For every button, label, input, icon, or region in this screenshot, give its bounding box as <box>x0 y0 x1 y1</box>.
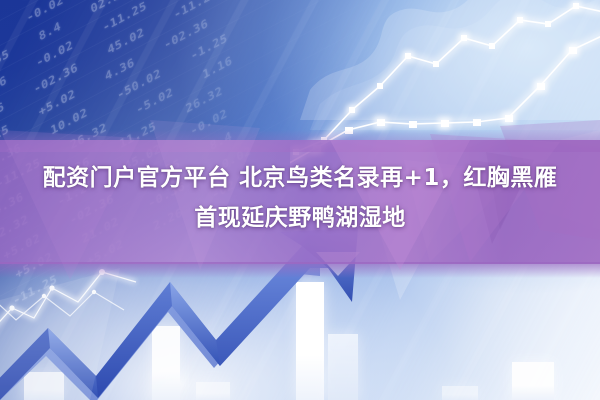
headline-line-1: 配资门户官方平台 北京鸟类名录再+1，红胸黑雁 <box>43 165 558 191</box>
page-title: 配资门户官方平台 北京鸟类名录再+1，红胸黑雁 首现延庆野鸭湖湿地 <box>0 158 600 238</box>
headline-line-2: 首现延庆野鸭湖湿地 <box>14 198 586 238</box>
banner-image: -0.02-11.25+5.0221.02-0.36-02.3645.02-11… <box>0 0 600 400</box>
